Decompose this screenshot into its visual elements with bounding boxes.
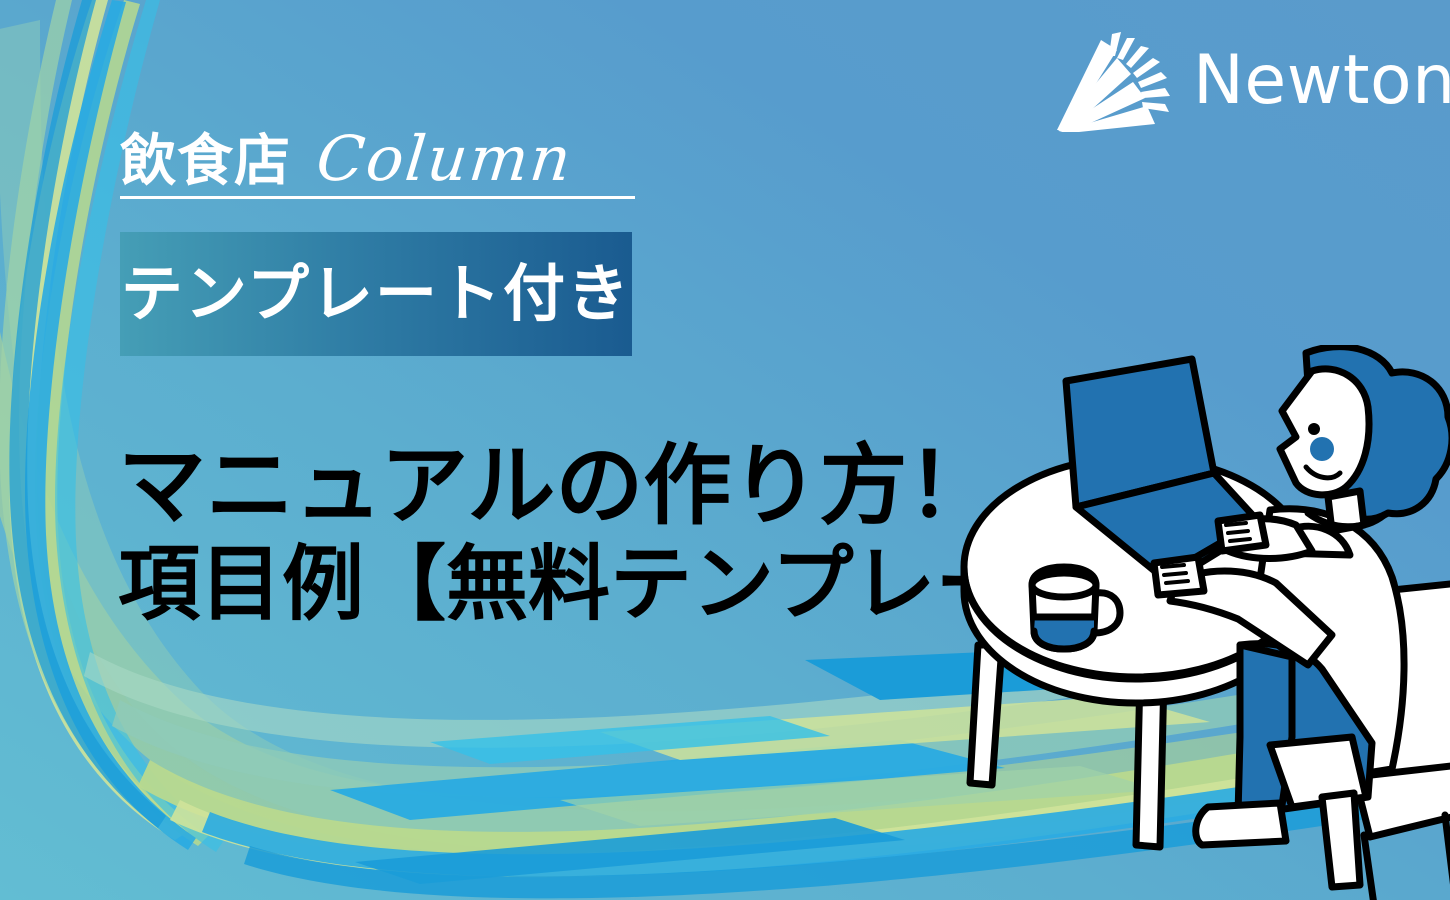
newton-fan-rays-logo-icon <box>1055 28 1183 134</box>
laptop-worker-illustration <box>940 345 1450 900</box>
eyebrow-heading: 飲食店 Column <box>120 128 635 199</box>
column-article-banner: Newton 飲食店 Column テンプレート付き マニュアルの作り方！ 項目… <box>0 0 1450 900</box>
brand-name: Newton <box>1193 47 1450 115</box>
brand-logo[interactable]: Newton <box>1055 28 1450 134</box>
eyebrow-category-label: 飲食店 <box>120 134 291 190</box>
badge-label: テンプレート付き <box>121 263 631 325</box>
eyebrow-script-label: Column <box>314 128 576 190</box>
template-included-badge: テンプレート付き <box>120 232 632 356</box>
